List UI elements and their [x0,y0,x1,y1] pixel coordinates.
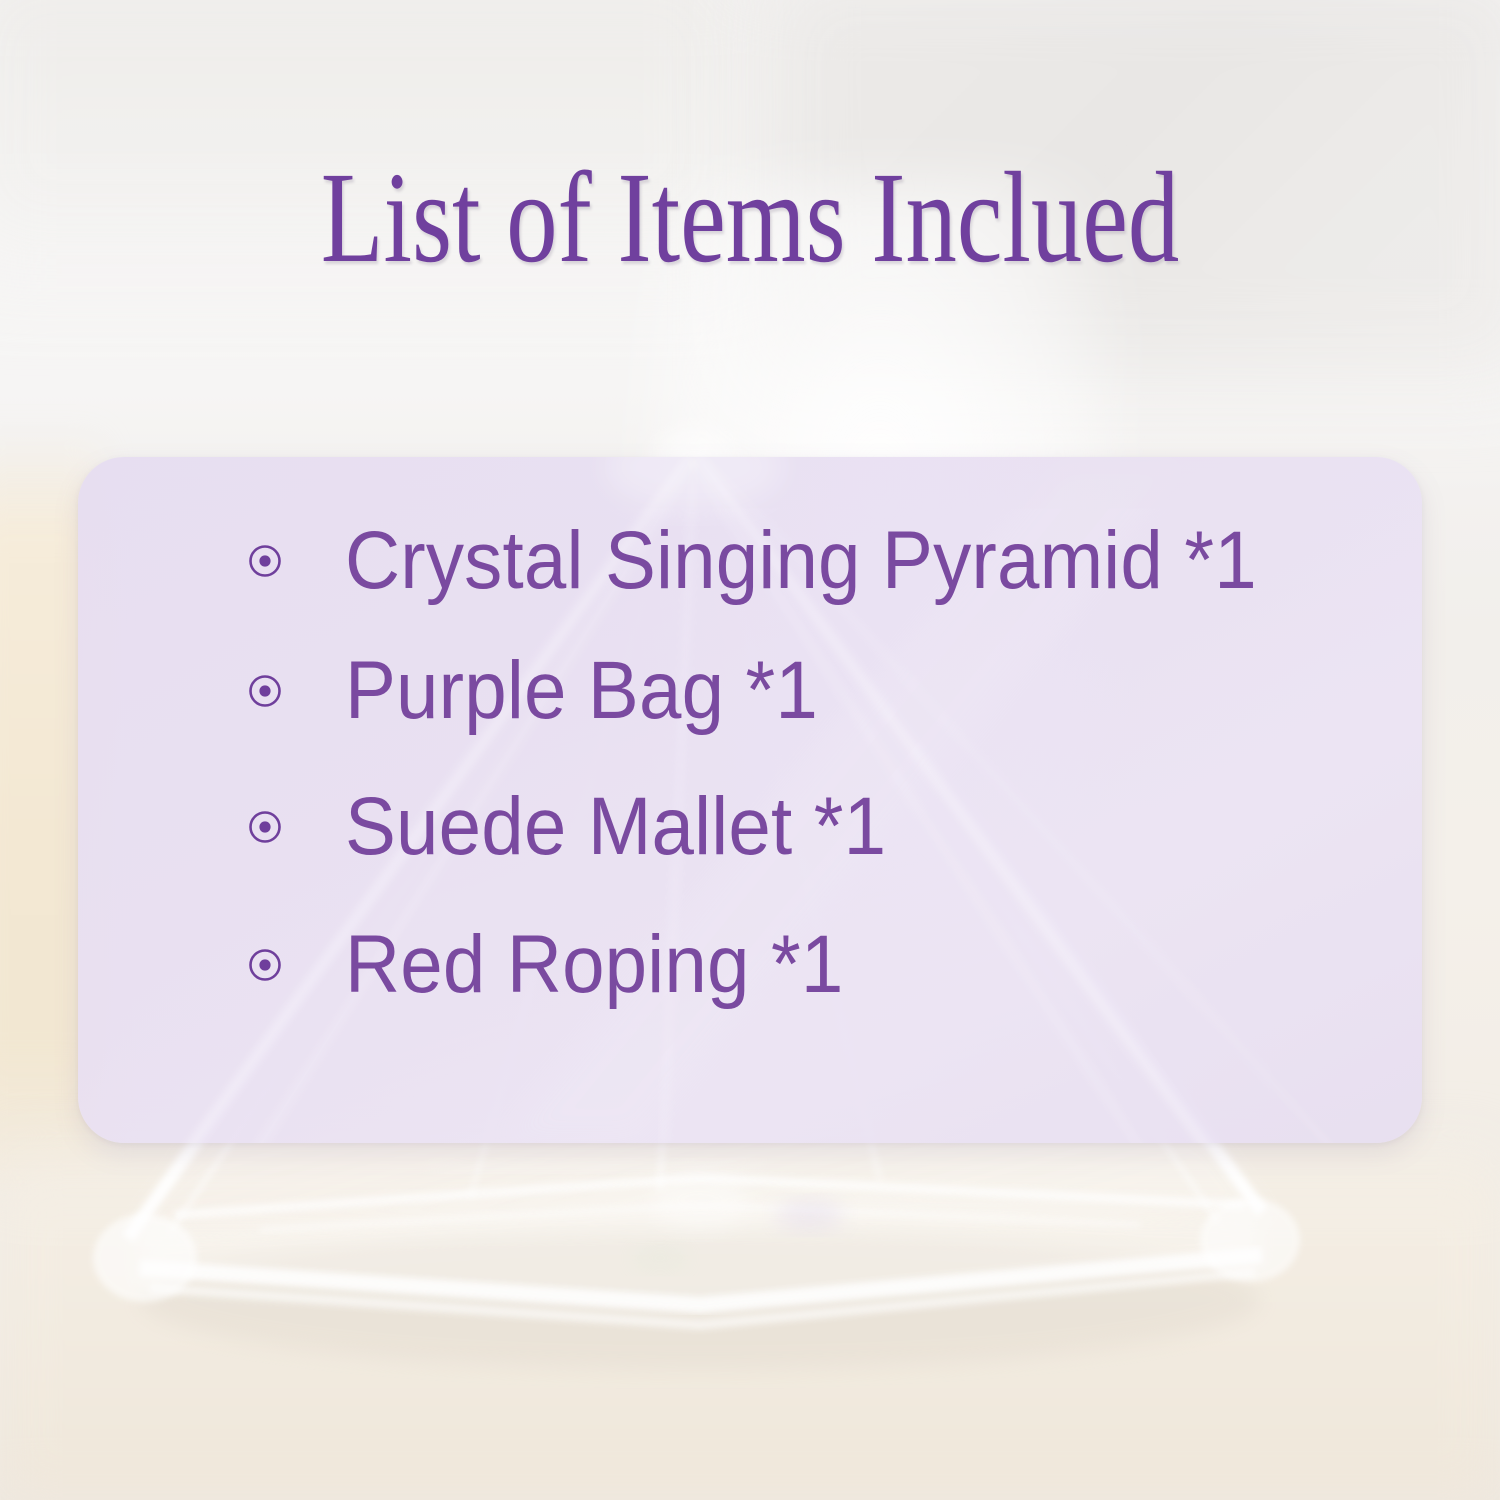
background-table-surface [0,1130,1500,1500]
page-title: List of Items Inclued [158,150,1343,287]
list-item: Purple Bag *1 [248,639,854,743]
circled-dot-bullet-icon [248,674,282,708]
list-item: Suede Mallet *1 [248,775,927,879]
list-item-label: Suede Mallet *1 [345,786,886,868]
list-item: Crystal Singing Pyramid *1 [248,509,1325,613]
items-included-card: Crystal Singing Pyramid *1 Purple Bag *1… [78,457,1422,1143]
list-item-label: Red Roping *1 [345,924,843,1006]
list-item-label: Purple Bag *1 [345,650,818,732]
list-item: Red Roping *1 [248,913,881,1017]
list-item-label: Crystal Singing Pyramid *1 [345,520,1257,602]
circled-dot-bullet-icon [248,544,282,578]
product-infographic: List of Items Inclued [0,0,1500,1500]
circled-dot-bullet-icon [248,948,282,982]
circled-dot-bullet-icon [248,810,282,844]
